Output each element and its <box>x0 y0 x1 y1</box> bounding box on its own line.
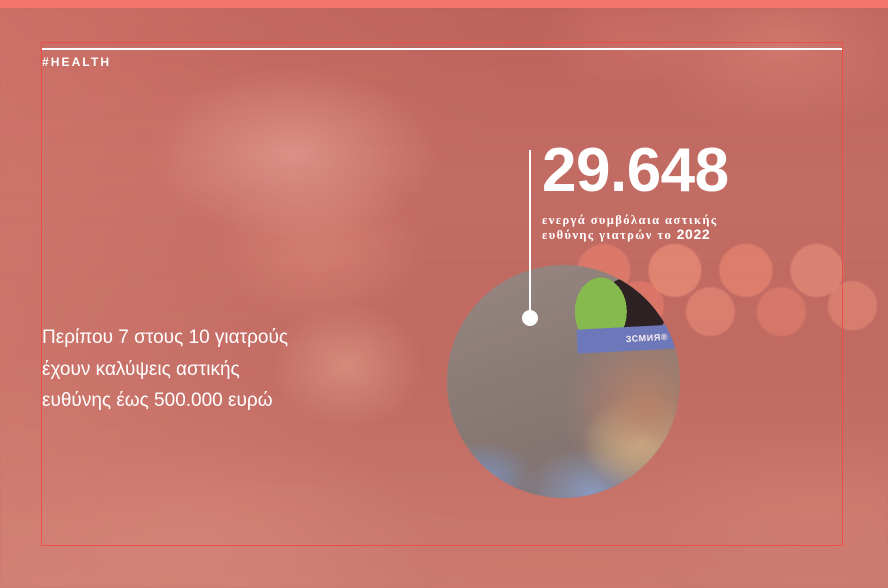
coral-tint-overlay <box>0 0 888 588</box>
body-copy-text: Περίπου 7 στους 10 γιατρούς έχουν καλύψε… <box>42 322 302 417</box>
circle-tint-overlay <box>447 265 680 498</box>
statistic-caption-year: 2022 <box>677 226 711 242</box>
hashtag-label: #HEALTH <box>42 55 111 69</box>
vertical-line-icon <box>529 150 531 316</box>
infographic-poster: ЗСМИЯ® #HEALTH 29.648 ενεργά συμβόλαια α… <box>0 0 888 588</box>
header-divider-rule <box>42 48 842 50</box>
top-accent-bar <box>0 0 888 8</box>
circle-marker-icon <box>522 310 538 326</box>
statistic-caption: ενεργά συμβόλαια αστικής ευθύνης γιατρών… <box>542 213 752 243</box>
circular-photo-inset: ЗСМИЯ® <box>447 265 680 498</box>
statistic-block: 29.648 ενεργά συμβόλαια αστικής ευθύνης … <box>542 140 842 243</box>
statistic-value: 29.648 <box>542 140 842 202</box>
